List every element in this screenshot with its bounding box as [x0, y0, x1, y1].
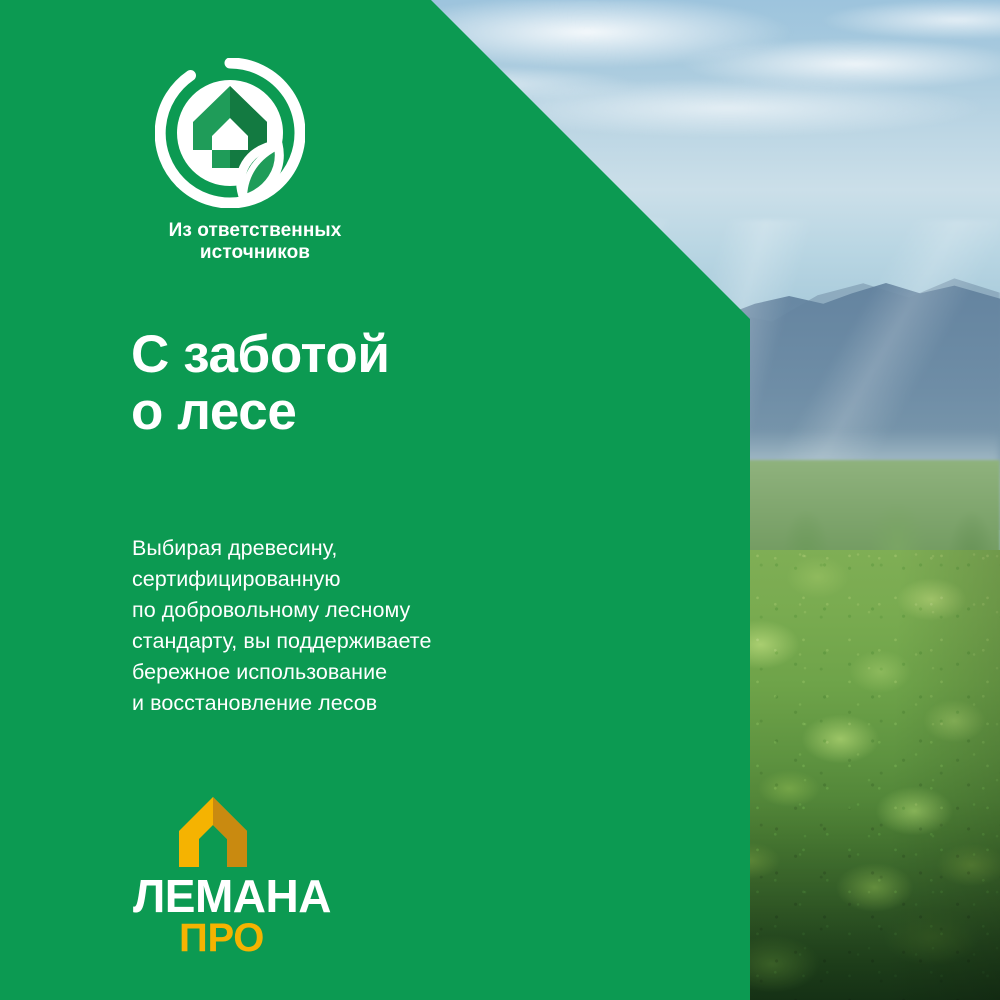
eco-badge-caption: Из ответственных источников [130, 220, 380, 264]
lemana-house-icon [177, 795, 249, 869]
body-paragraph: Выбирая древесину, сертифицированную по … [132, 533, 431, 719]
brand-subname: ПРО [179, 918, 373, 958]
poster-canvas: Из ответственных источников С заботой о … [0, 0, 1000, 1000]
content-layer: Из ответственных источников С заботой о … [0, 0, 1000, 1000]
page-title: С заботой о лесе [131, 326, 390, 440]
brand-name: ЛЕМАНА [133, 873, 373, 919]
brand-lockup: ЛЕМАНА ПРО [133, 795, 373, 958]
eco-house-leaf-icon [155, 58, 305, 208]
eco-certification-badge: Из ответственных источников [130, 58, 380, 264]
